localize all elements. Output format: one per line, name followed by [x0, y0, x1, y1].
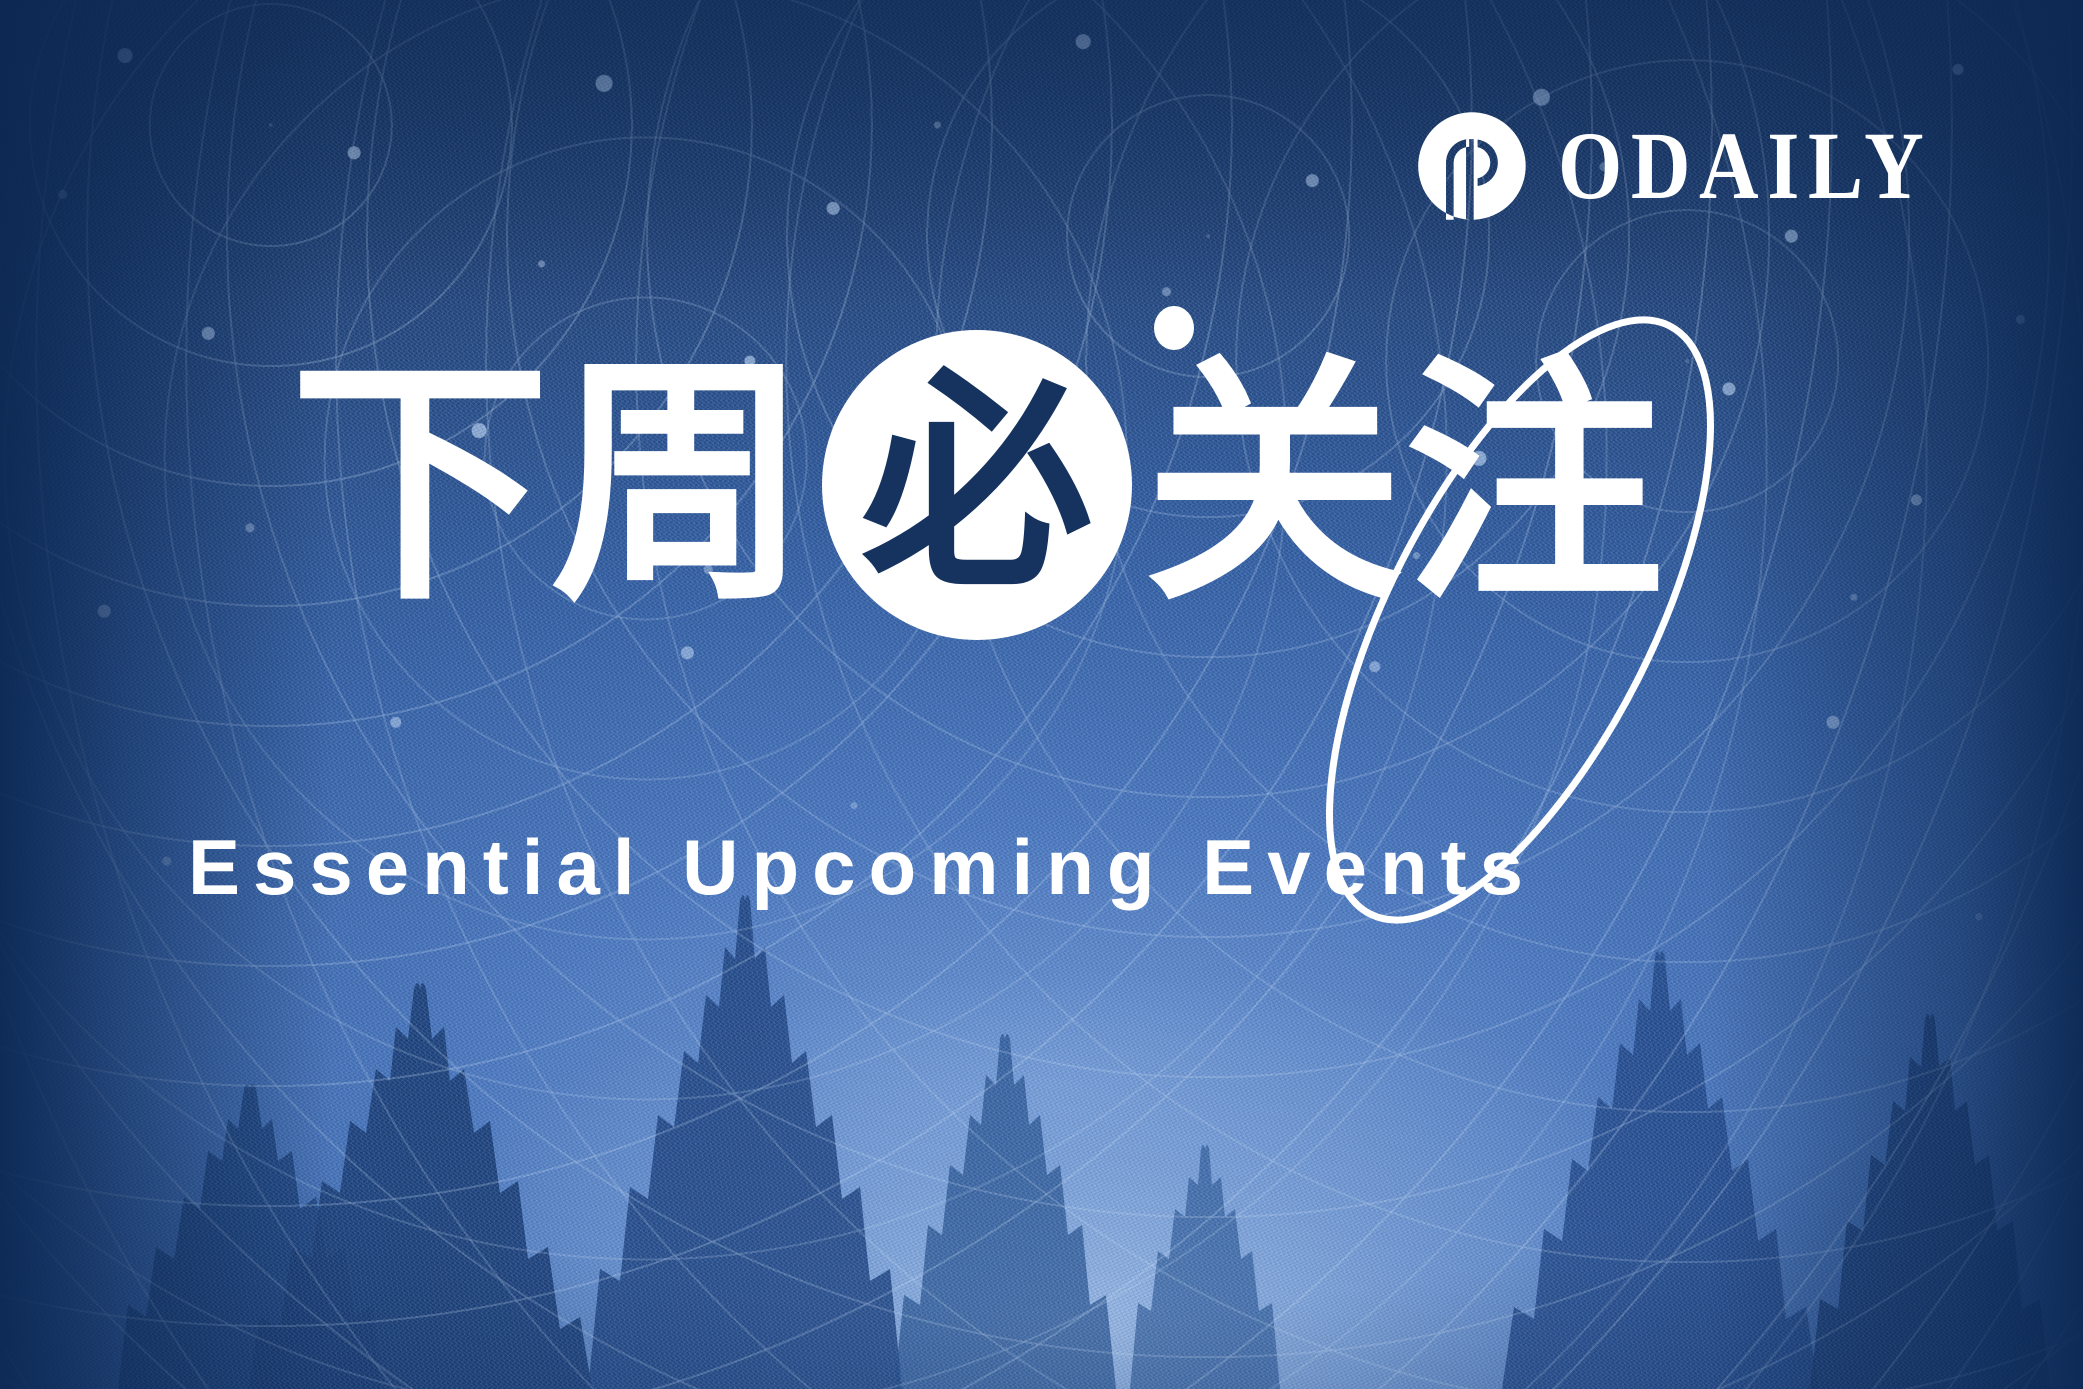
accent-dot-icon	[1154, 306, 1194, 350]
headline-badge-character: 必	[822, 330, 1132, 640]
odaily-circle-p-logo-icon	[1416, 110, 1528, 222]
headline-suffix: 关注	[1144, 349, 1664, 622]
page-subtitle: Essential Upcoming Events	[188, 828, 1536, 906]
poster-canvas: ODAILY 下周 必 关注 Essential Upcoming Events	[0, 0, 2083, 1389]
brand-lockup: ODAILY	[1416, 110, 1993, 222]
badge-glyph: 必	[822, 330, 1132, 640]
brand-wordmark: ODAILY	[1558, 118, 1932, 214]
page-title: 下周 必 关注	[290, 330, 1664, 640]
headline-block: 下周 必 关注	[0, 330, 2083, 750]
headline-prefix: 下周	[290, 349, 810, 622]
poster-content: ODAILY 下周 必 关注 Essential Upcoming Events	[0, 0, 2083, 1389]
